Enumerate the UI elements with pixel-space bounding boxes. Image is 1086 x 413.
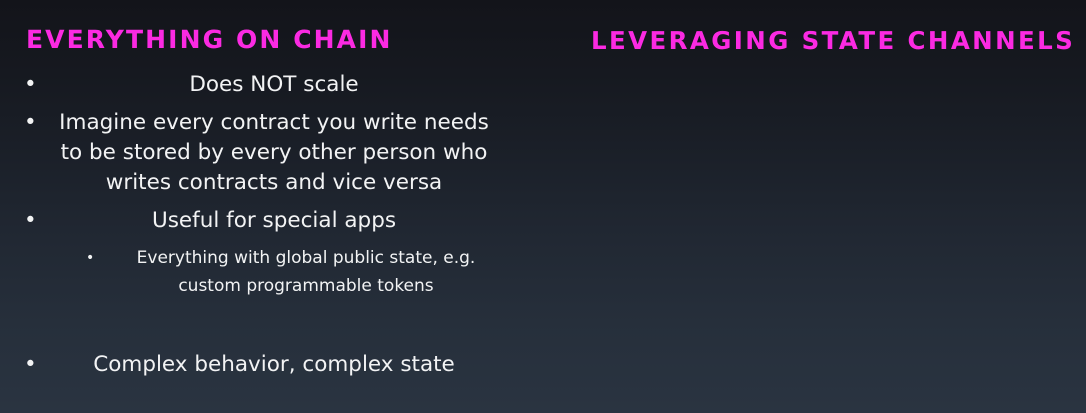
list-spacer: [24, 308, 554, 350]
list-item: • Does NOT scale: [24, 70, 554, 100]
bullet-dot-icon: •: [24, 70, 37, 100]
column-leveraging-state-channels: LEVERAGING STATE CHANNELS • Does scale •…: [570, 0, 1086, 413]
bullet-dot-icon: •: [24, 350, 37, 380]
list-item: • Useful for special apps: [24, 206, 554, 236]
list-item-text: Does NOT scale: [45, 70, 503, 100]
column-heading-leveraging-state-channels: LEVERAGING STATE CHANNELS: [591, 26, 1075, 55]
sub-list-item: • Everything with global public state, e…: [24, 244, 554, 300]
bullet-list-everything-on-chain: • Does NOT scale • Imagine every contrac…: [24, 70, 554, 388]
column-heading-everything-on-chain: EVERYTHING ON CHAIN: [26, 25, 393, 54]
list-item: • Imagine every contract you write needs…: [24, 108, 554, 198]
slide-canvas: EVERYTHING ON CHAIN • Does NOT scale • I…: [0, 0, 1086, 413]
bullet-dot-icon: •: [24, 108, 37, 138]
list-item: • Complex behavior, complex state: [24, 350, 554, 380]
bullet-dot-icon: •: [24, 206, 37, 236]
bullet-dot-icon: •: [86, 244, 94, 272]
list-item-text: Imagine every contract you write needs t…: [45, 108, 503, 198]
list-item-text: Complex behavior, complex state: [45, 350, 503, 380]
list-item-text: Useful for special apps: [45, 206, 503, 236]
two-column-layout: EVERYTHING ON CHAIN • Does NOT scale • I…: [0, 0, 1086, 413]
sub-list-item-text: Everything with global public state, e.g…: [106, 244, 506, 300]
column-everything-on-chain: EVERYTHING ON CHAIN • Does NOT scale • I…: [0, 0, 570, 413]
